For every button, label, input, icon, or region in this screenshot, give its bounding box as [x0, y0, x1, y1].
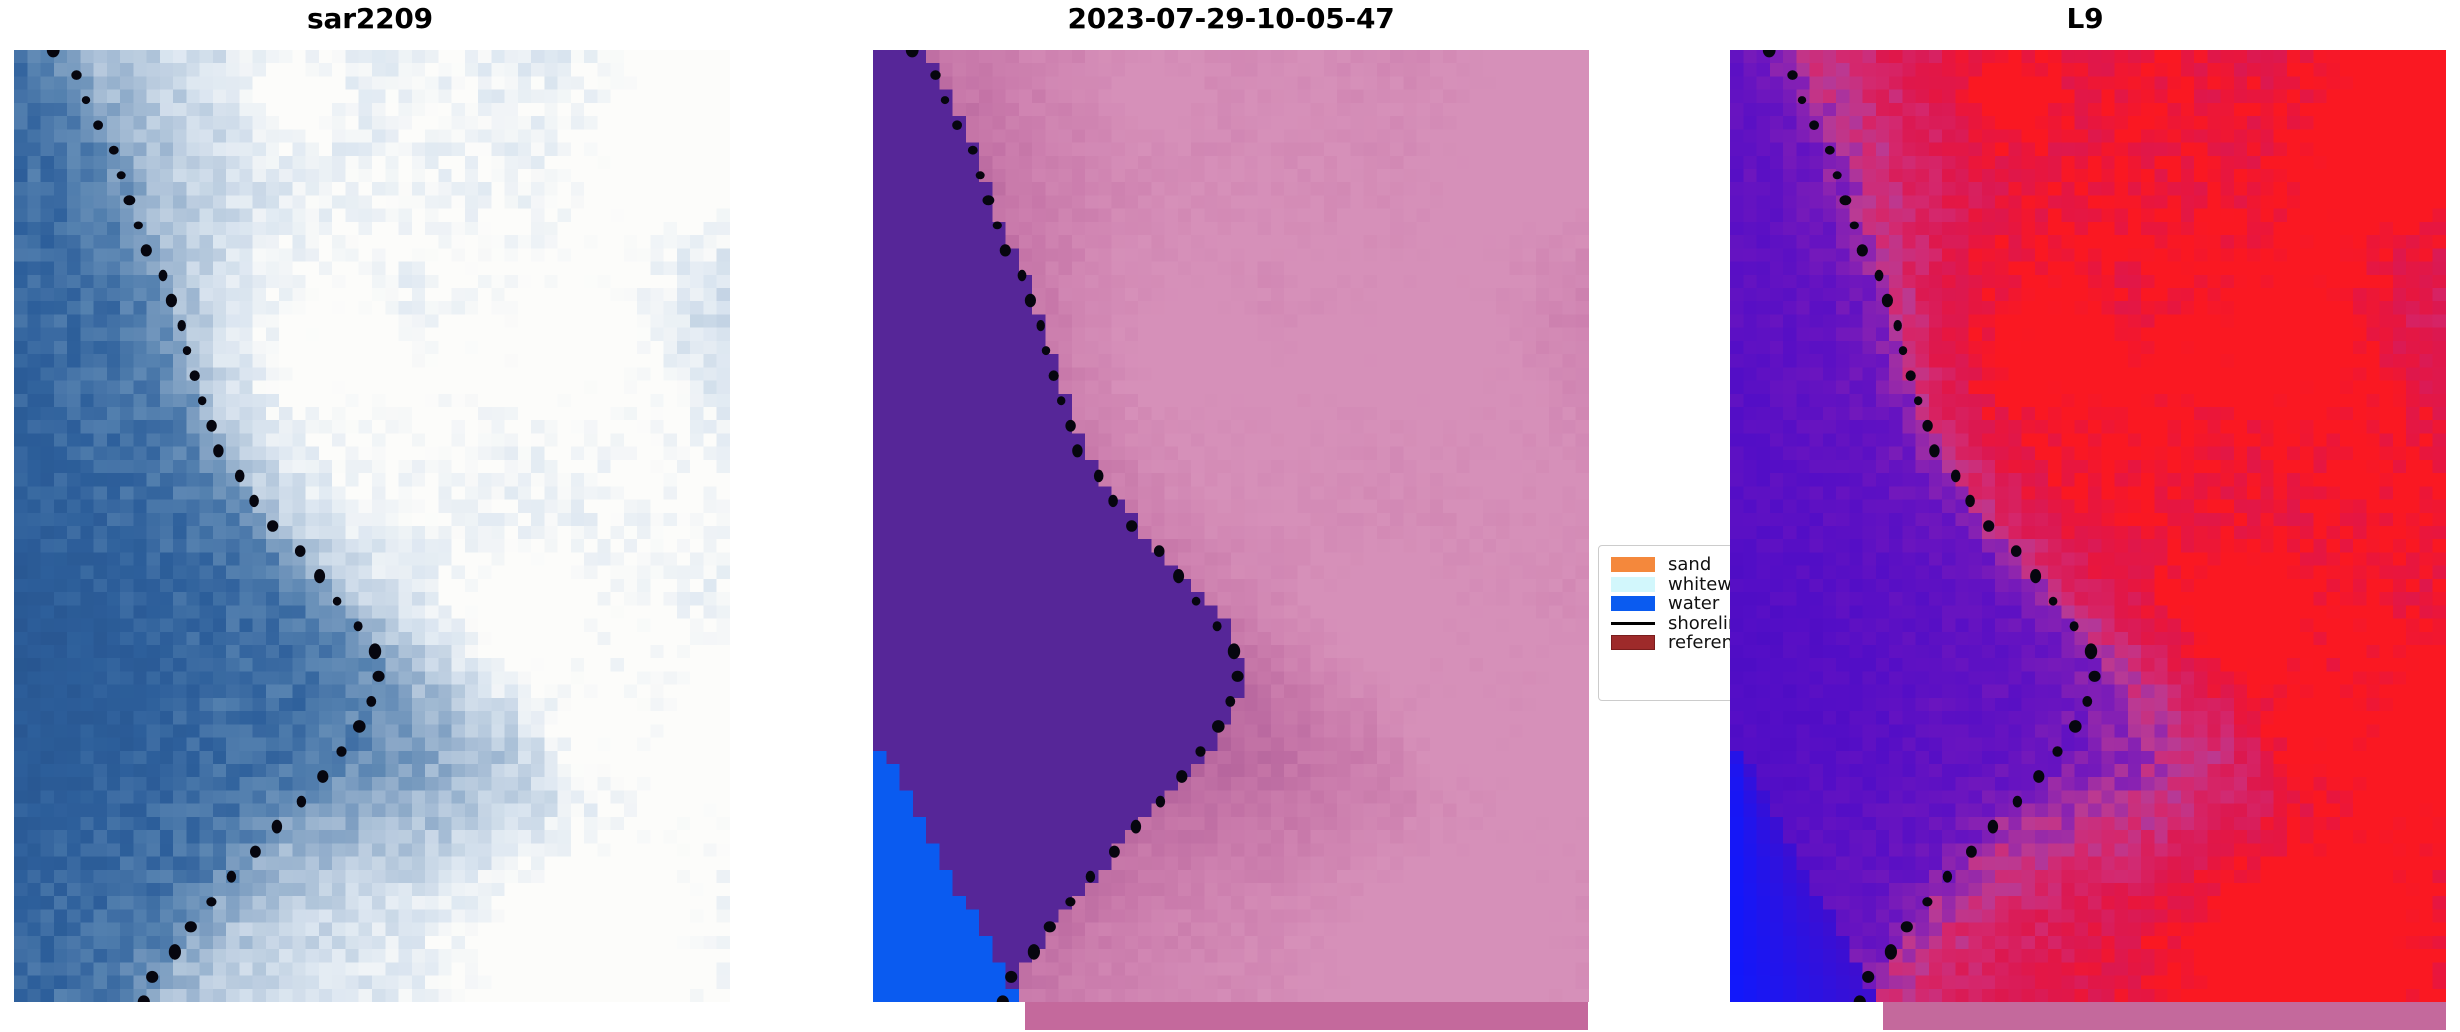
tail-strip-l9 — [1883, 1002, 2446, 1030]
shoreline-line-icon — [1611, 616, 1655, 631]
panel-sar-image — [14, 50, 730, 1002]
legend-label-water: water — [1668, 594, 1719, 614]
reference-shoreline-overlay-classified — [873, 50, 1589, 1002]
sand-swatch-icon — [1611, 557, 1655, 572]
panel-l9-image — [1730, 50, 2446, 1002]
panel-classified-image — [873, 50, 1589, 1002]
panel-title-l9: L9 — [1685, 4, 2460, 34]
whitewater-swatch-icon — [1611, 577, 1655, 592]
reference-shoreline-overlay-l9 — [1730, 50, 2446, 1002]
tail-strip-classified — [1025, 1002, 1588, 1030]
reference-shoreline-swatch-icon — [1611, 635, 1655, 650]
panel-title-classified: 2023-07-29-10-05-47 — [831, 4, 1631, 34]
panel-title-sar: sar2209 — [0, 4, 770, 34]
figure-canvas: sar2209 2023-07-29-10-05-47 L9 sand whit… — [0, 0, 2460, 1032]
water-swatch-icon — [1611, 596, 1655, 611]
legend-label-sand: sand — [1668, 555, 1711, 575]
reference-shoreline-overlay-sar — [14, 50, 730, 1002]
